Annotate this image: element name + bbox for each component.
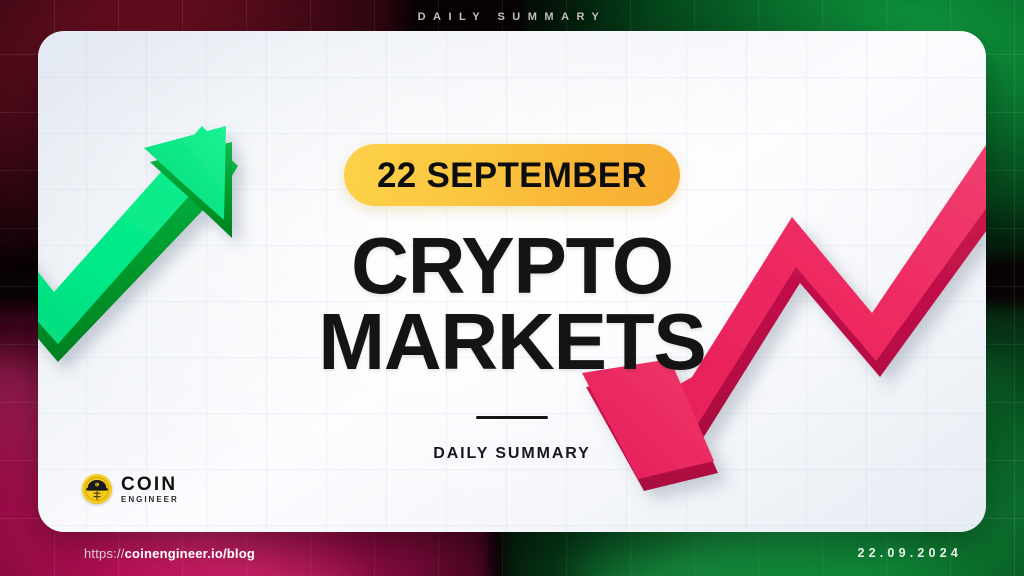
brand-name-secondary: ENGINEER: [121, 496, 179, 504]
card-subtitle: DAILY SUMMARY: [433, 445, 590, 463]
brand-wordmark: COIN ENGINEER: [121, 475, 179, 504]
page-title-line-2: MARKETS: [318, 305, 705, 379]
footer-url-protocol: https://: [84, 546, 125, 561]
footer-url-domain: coinengineer.io/blog: [125, 546, 255, 561]
poster-canvas: DAILY SUMMARY: [0, 0, 1024, 576]
content-card: 22 SEPTEMBER CRYPTO MARKETS DAILY SUMMAR…: [38, 31, 986, 532]
date-badge: 22 SEPTEMBER: [344, 144, 680, 206]
title-divider: [476, 416, 548, 419]
date-badge-label: 22 SEPTEMBER: [377, 158, 647, 193]
footer-date: 22.09.2024: [857, 546, 962, 560]
card-text-block: 22 SEPTEMBER CRYPTO MARKETS DAILY SUMMAR…: [38, 31, 986, 532]
eyebrow-label: DAILY SUMMARY: [0, 11, 1024, 23]
brand-logo[interactable]: C COIN ENGINEER: [82, 474, 179, 504]
footer-url[interactable]: https://coinengineer.io/blog: [84, 546, 255, 561]
coin-engineer-logo-icon: C: [82, 474, 112, 504]
page-title-line-1: CRYPTO: [351, 229, 673, 303]
brand-name-primary: COIN: [121, 475, 179, 494]
